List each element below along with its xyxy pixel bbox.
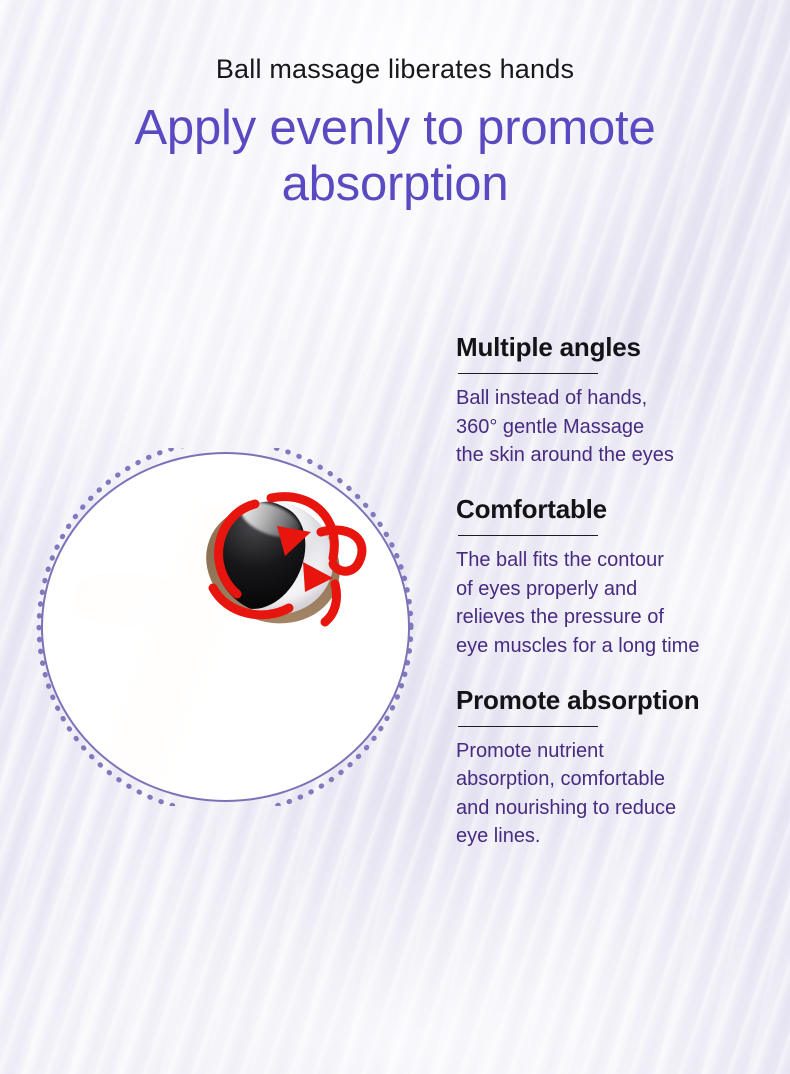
feature-title: Promote absorption [456,686,776,715]
product-image-circle [26,448,414,806]
subtitle: Ball massage liberates hands [0,55,790,85]
feature-body-line: the skin around the eyes [456,441,776,469]
feature-body-line: of eyes properly and [456,575,776,603]
feature-body: Promote nutrient absorption, comfortable… [456,737,776,851]
feature-body-line: 360° gentle Massage [456,413,776,441]
feature-title: Multiple angles [456,333,776,362]
headline-line-1: Apply evenly to promote [34,101,756,157]
feature-title: Comfortable [456,495,776,524]
feature-promote-absorption: Promote absorption Promote nutrient abso… [456,686,776,851]
feature-body-line: eye muscles for a long time [456,632,776,660]
page-title: Apply evenly to promote absorption [0,101,790,213]
arrowhead-down-right [303,562,333,592]
feature-body-line: Ball instead of hands, [456,384,776,412]
feature-body-line: and nourishing to reduce [456,794,776,822]
feature-divider [458,373,598,374]
feature-body: Ball instead of hands, 360° gentle Massa… [456,384,776,469]
feature-body-line: absorption, comfortable [456,765,776,793]
product-photo [41,452,410,802]
feature-divider [458,726,598,727]
feature-multiple-angles: Multiple angles Ball instead of hands, 3… [456,333,776,469]
feature-body-line: eye lines. [456,822,776,850]
360-rotation-arrows-icon [193,480,383,640]
feature-body-line: The ball fits the contour [456,546,776,574]
feature-body-line: Promote nutrient [456,737,776,765]
arrowhead-up-right [277,526,311,556]
feature-divider [458,535,598,536]
header: Ball massage liberates hands Apply evenl… [0,0,790,212]
feature-list: Multiple angles Ball instead of hands, 3… [456,333,776,877]
feature-body: The ball fits the contour of eyes proper… [456,546,776,660]
feature-body-line: relieves the pressure of [456,603,776,631]
feature-comfortable: Comfortable The ball fits the contour of… [456,495,776,660]
headline-line-2: absorption [34,157,756,213]
